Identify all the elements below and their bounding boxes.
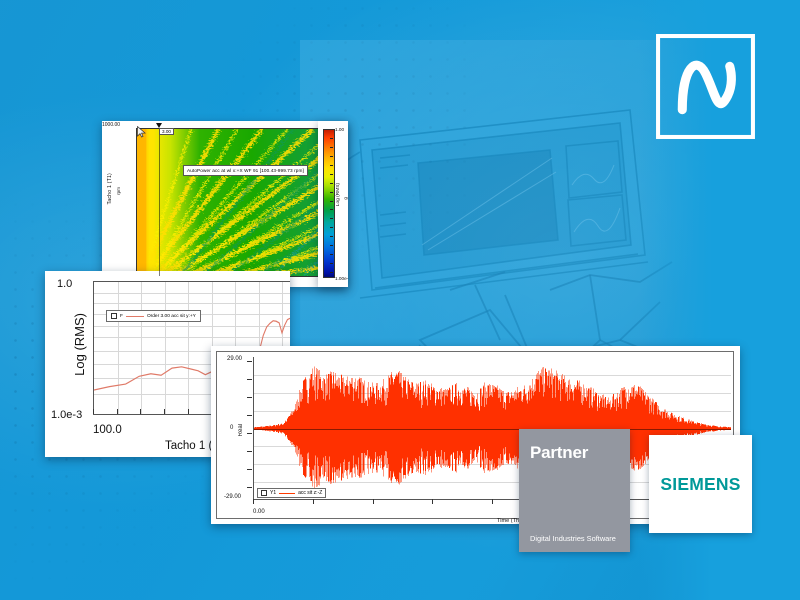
order-legend-checkbox[interactable] [111,313,117,319]
colormap-image [137,129,346,276]
siemens-logo: SIEMENS [649,435,752,533]
square-wave-mark-icon [655,33,756,140]
order-x-first-tick: 100.0 [93,424,122,436]
colormap-y-top-tick: 1000.00 [102,122,120,128]
order-legend-text: Order 3.00 acc sit y:+Y [147,314,196,319]
mouse-pointer-icon [137,125,146,143]
waveform-y-zero-tick: 0 [230,425,233,431]
colormap-y-unit: rpm [116,187,121,195]
colorbar-min-tick: 1.00e- [335,276,348,281]
chart-colormap-panel[interactable]: 1000.00 Tacho 1 (T1) rpm [102,121,348,287]
waveform-legend-checkbox[interactable] [261,490,267,496]
order-legend-line-swatch [126,316,144,317]
poster-canvas: 1000.00 Tacho 1 (T1) rpm [0,0,800,600]
order-legend-marker: F [120,314,123,319]
partner-subtitle: Digital Industries Software [530,534,616,543]
chart-colorbar-panel: 1.00 1.00e- Log (RMS) g [318,121,348,287]
colormap-plot-area[interactable]: 3.00 AutoPower acc at wl x:+X WF 91 [100… [136,128,346,277]
waveform-legend-line-swatch [279,493,295,494]
waveform-x-first-tick: 0.00 [253,509,265,515]
siemens-wordmark: SIEMENS [660,474,740,495]
colormap-title-label: AutoPower acc at wl x:+X WF 91 [100.43-9… [183,165,308,176]
partner-badge: Partner Digital Industries Software [519,429,630,552]
waveform-legend-marker: Y1 [270,490,276,496]
partner-title: Partner [530,443,588,463]
colormap-y-label: Tacho 1 (T1) [107,173,113,205]
waveform-y-label: Real [238,424,244,436]
colorbar-unit: g [343,197,348,200]
colormap-cursor-line[interactable] [159,129,160,276]
waveform-legend[interactable]: Y1 acc sit z:-Z [257,488,326,498]
order-legend[interactable]: F Order 3.00 acc sit y:+Y [106,310,201,322]
waveform-zero-axis [253,429,731,430]
waveform-y-top-tick: 29.00 [227,356,242,362]
order-y-label: Log (RMS) [72,313,87,376]
colorbar-max-tick: 1.00 [335,127,344,132]
colormap-cursor-handle-icon[interactable] [156,123,162,128]
colorbar-ticks [323,129,333,278]
order-y-top-tick: 1.0 [57,278,72,290]
colorbar-label: Log (RMS) [336,183,341,206]
waveform-legend-text: acc sit z:-Z [298,490,322,496]
order-y-bottom-tick: 1.0e-3 [51,409,82,421]
waveform-y-bottom-tick: -29.00 [224,494,241,500]
colormap-cursor-value: 3.00 [159,128,174,135]
colormap-y-axis: 1000.00 Tacho 1 (T1) rpm [102,121,136,287]
